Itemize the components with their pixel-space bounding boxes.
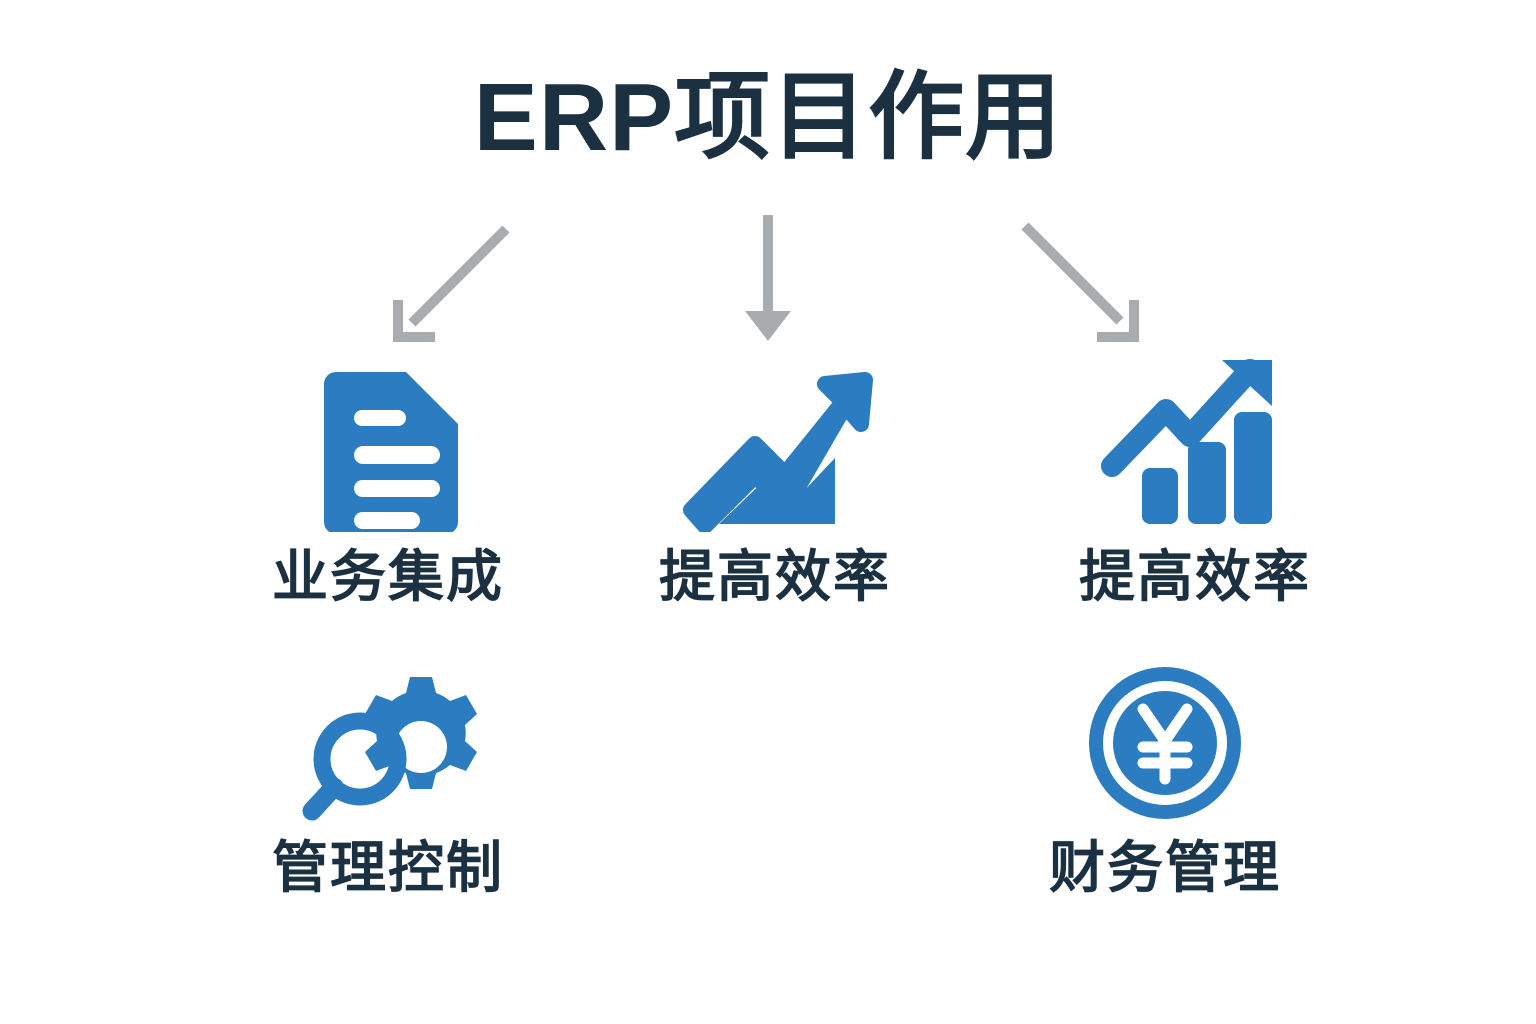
icon-container bbox=[223, 352, 553, 532]
gear-magnifier-icon bbox=[298, 671, 478, 823]
concept-item-management-control[interactable]: 管理控制 bbox=[223, 648, 553, 901]
concept-label: 管理控制 bbox=[223, 835, 553, 901]
document-icon bbox=[318, 366, 458, 532]
concept-label: 提高效率 bbox=[1030, 544, 1360, 610]
yen-coin-icon bbox=[1085, 663, 1245, 823]
concept-item-business-integration[interactable]: 业务集成 bbox=[223, 352, 553, 610]
icon-container bbox=[1000, 648, 1330, 823]
page-title: ERP项目作用 bbox=[0, 62, 1536, 174]
bar-chart-growth-icon bbox=[1100, 354, 1290, 532]
arrow-to-efficiency-icon bbox=[745, 215, 791, 341]
concept-label: 业务集成 bbox=[223, 544, 553, 610]
concept-item-efficiency-left[interactable]: 提高效率 bbox=[610, 352, 940, 610]
concept-item-efficiency-right[interactable]: 提高效率 bbox=[1030, 352, 1360, 610]
trending-up-arrow-icon bbox=[675, 366, 875, 532]
arrow-to-growth-icon bbox=[1025, 226, 1134, 337]
concept-item-financial-management[interactable]: 财务管理 bbox=[1000, 648, 1330, 901]
concept-label: 财务管理 bbox=[1000, 835, 1330, 901]
concept-label: 提高效率 bbox=[610, 544, 940, 610]
icon-container bbox=[610, 352, 940, 532]
icon-container bbox=[223, 648, 553, 823]
arrow-to-integration-icon bbox=[398, 229, 506, 337]
icon-container bbox=[1030, 352, 1360, 532]
